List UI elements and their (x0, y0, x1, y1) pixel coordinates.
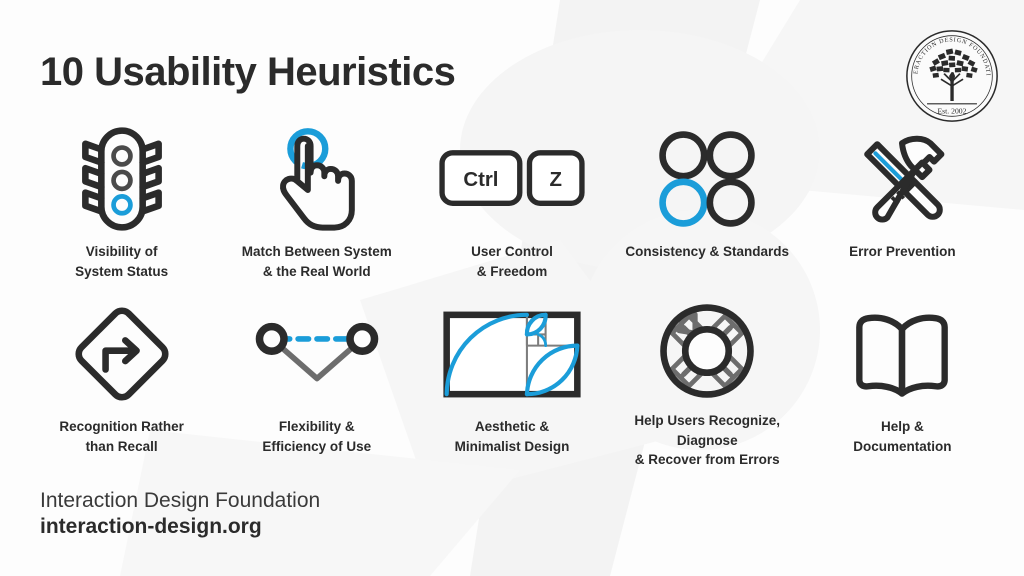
heuristic-label-6: Recognition Rather than Recall (59, 417, 184, 456)
hammer-screwdriver-icon (805, 120, 1000, 238)
heuristic-label-3: User Control & Freedom (471, 242, 553, 281)
hand-tap-icon (219, 120, 414, 238)
footer: Interaction Design Foundation interactio… (40, 488, 320, 541)
life-preserver-icon (610, 295, 805, 407)
open-book-icon (805, 295, 1000, 413)
heuristic-item-1[interactable]: Visibility of System Status (24, 120, 219, 295)
heuristic-item-10[interactable]: Help & Documentation (805, 295, 1000, 470)
heuristics-grid: Visibility of System Status Match Betwee… (24, 120, 1000, 470)
heuristic-item-7: Flexibility & Efficiency of Use (219, 295, 414, 470)
key-label-ctrl: Ctrl (463, 169, 498, 191)
heuristic-label-8: Aesthetic & Minimalist Design (455, 417, 570, 456)
heuristic-item-9[interactable]: Help Users Recognize, Diagnose & Recover… (610, 295, 805, 470)
traffic-light-icon (24, 120, 219, 238)
road-sign-turn-icon (24, 295, 219, 413)
key-label-z: Z (549, 169, 561, 191)
heuristic-label-10: Help & Documentation (853, 417, 951, 456)
heuristic-label-7: Flexibility & Efficiency of Use (262, 417, 371, 456)
footer-organization: Interaction Design Foundation (40, 488, 320, 514)
four-circles-icon (610, 120, 805, 238)
ctrl-z-keys-icon: Ctrl Z (414, 120, 609, 238)
golden-ratio-icon (414, 295, 609, 413)
heuristic-label-4: Consistency & Standards (625, 242, 789, 262)
shortcut-path-icon (219, 295, 414, 413)
page-title: 10 Usability Heuristics (40, 50, 455, 95)
heuristic-item-2[interactable]: Match Between System & the Real World (219, 120, 414, 295)
idf-logo: INTERACTION DESIGN FOUNDATION (904, 28, 1000, 124)
heuristic-label-5: Error Prevention (849, 242, 956, 262)
heuristic-item-4[interactable]: Consistency & Standards (610, 120, 805, 295)
heuristic-item-3[interactable]: Ctrl Z User Control & Freedom (414, 120, 609, 295)
footer-url[interactable]: interaction-design.org (40, 514, 320, 540)
heuristic-item-6[interactable]: Recognition Rather than Recall (24, 295, 219, 470)
logo-established-text: Est. 2002 (938, 106, 967, 115)
heuristic-label-2: Match Between System & the Real World (242, 242, 392, 281)
heuristic-label-9: Help Users Recognize, Diagnose & Recover… (610, 411, 805, 470)
heuristic-item-5[interactable]: Error Prevention (805, 120, 1000, 295)
heuristic-item-8[interactable]: Aesthetic & Minimalist Design (414, 295, 609, 470)
heuristic-label-1: Visibility of System Status (75, 242, 168, 281)
